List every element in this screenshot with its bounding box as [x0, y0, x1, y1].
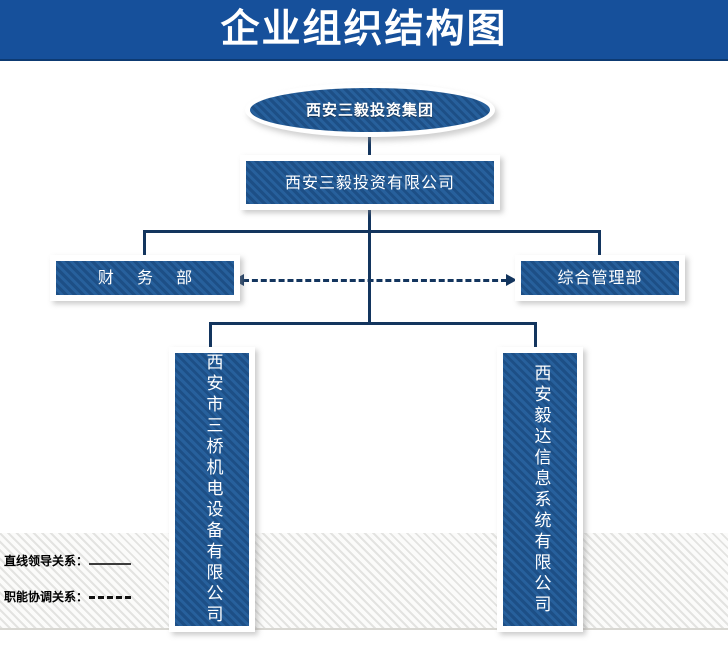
node-finance-label: 财 务 部 [89, 268, 201, 288]
connector-to-admin [598, 230, 601, 256]
node-group[interactable]: 西安三毅投资集团 [245, 83, 495, 137]
connector-group-to-company [368, 136, 371, 156]
node-admin-department[interactable]: 综合管理部 [515, 255, 685, 301]
legend-label-functional-coordination: 职能协调关系： [4, 588, 88, 605]
connector-to-finance [143, 230, 146, 256]
page-title: 企业组织结构图 [0, 0, 728, 59]
node-group-label: 西安三毅投资集团 [306, 101, 434, 120]
legend-dashed-line-icon [89, 596, 131, 599]
legend-item-functional-coordination: 职能协调关系： [4, 578, 164, 614]
legend-label-direct-leadership: 直线领导关系： [4, 552, 88, 569]
connector-company-trunk [368, 210, 371, 324]
connector-coordination-dashed [243, 279, 507, 282]
node-group-fill: 西安三毅投资集团 [250, 88, 490, 132]
legend-solid-line-icon [89, 563, 131, 565]
node-subsidiary-left-fill: 西安市三桥机电设备有限公司 [175, 353, 249, 626]
node-subsidiary-right-label: 西安毅达信息系统有限公司 [532, 364, 549, 616]
node-company-fill: 西安三毅投资有限公司 [246, 161, 494, 204]
title-banner: 企业组织结构图 [0, 0, 728, 61]
node-subsidiary-left[interactable]: 西安市三桥机电设备有限公司 [169, 347, 255, 632]
node-company-label: 西安三毅投资有限公司 [285, 173, 455, 193]
connector-to-sub-right [534, 322, 537, 349]
node-subsidiary-right[interactable]: 西安毅达信息系统有限公司 [497, 347, 583, 632]
connector-departments-bar [143, 230, 601, 233]
connector-subsidiaries-bar [209, 322, 537, 325]
node-subsidiary-left-label: 西安市三桥机电设备有限公司 [204, 353, 221, 626]
node-subsidiary-right-fill: 西安毅达信息系统有限公司 [503, 353, 577, 626]
legend: 直线领导关系： 职能协调关系： [4, 542, 164, 614]
node-finance-fill: 财 务 部 [56, 261, 234, 295]
node-admin-fill: 综合管理部 [521, 261, 679, 295]
connector-to-sub-left [209, 322, 212, 349]
node-company[interactable]: 西安三毅投资有限公司 [240, 155, 500, 210]
node-admin-label: 综合管理部 [557, 268, 642, 288]
node-finance-department[interactable]: 财 务 部 [50, 255, 240, 301]
legend-item-direct-leadership: 直线领导关系： [4, 542, 164, 578]
